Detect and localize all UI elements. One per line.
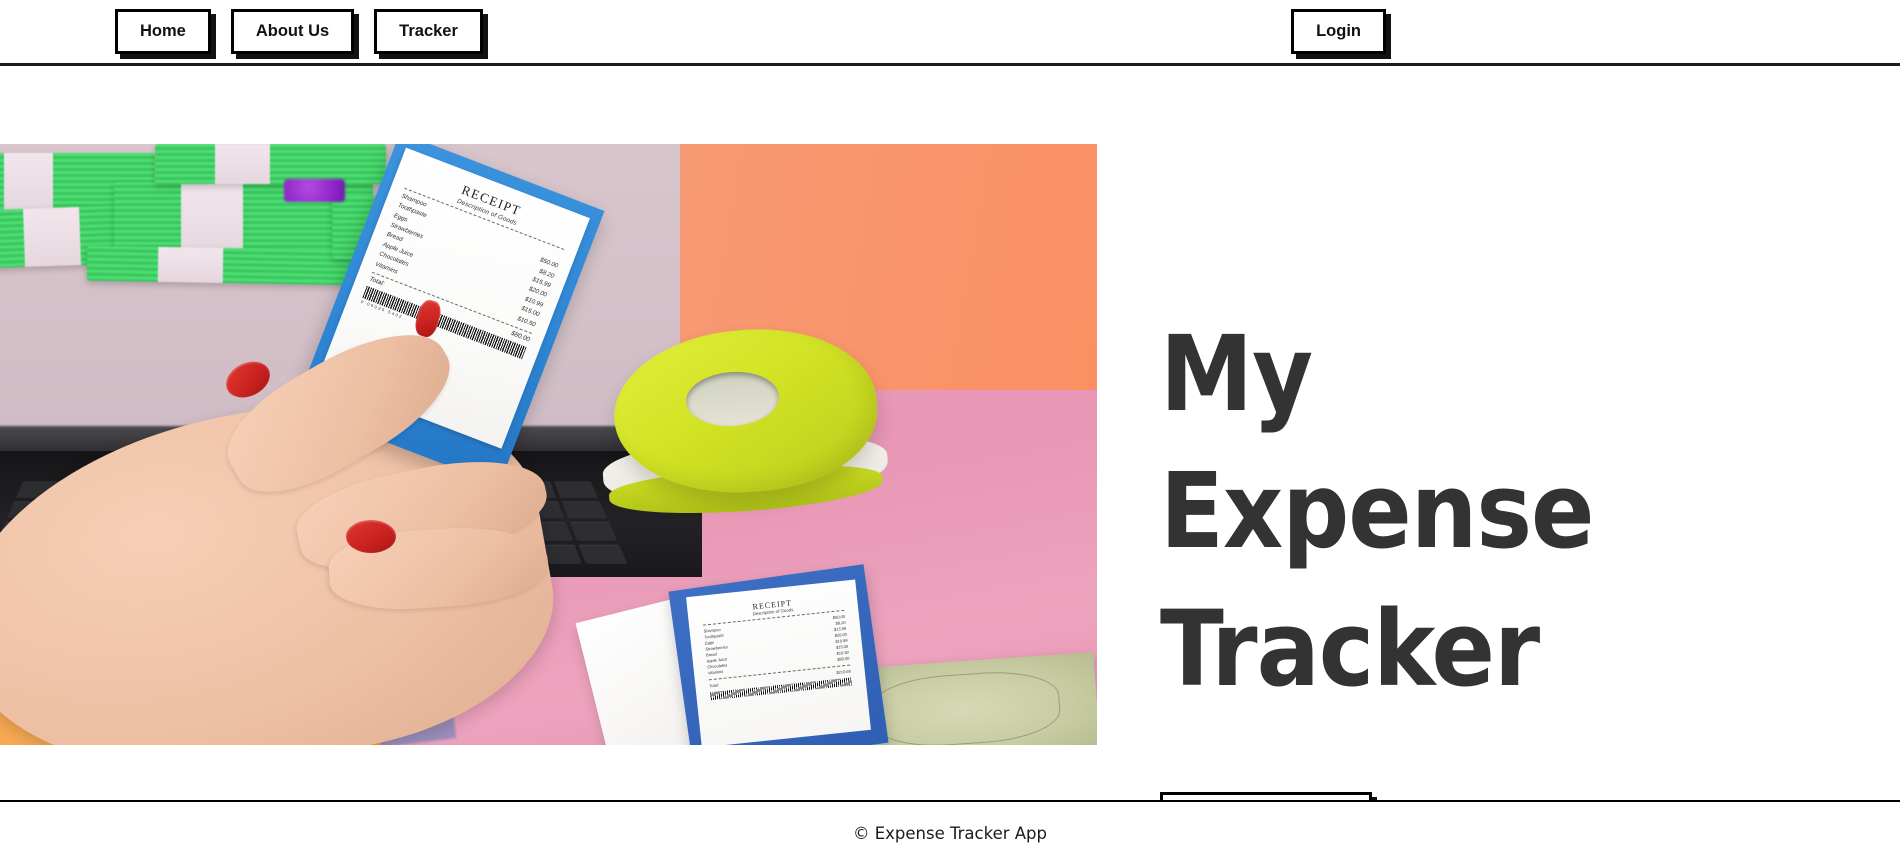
photo-money-bundle bbox=[87, 245, 360, 284]
total-label: Total: bbox=[369, 276, 386, 288]
footer-copyright: © Expense Tracker App bbox=[853, 824, 1047, 843]
item-name: Vitamins bbox=[708, 668, 724, 676]
login-button[interactable]: Login bbox=[1291, 9, 1386, 54]
nav-tracker-button[interactable]: Tracker bbox=[374, 9, 483, 54]
header-actions: Login bbox=[1291, 9, 1386, 54]
photo-purple-seal bbox=[284, 179, 345, 202]
hero-image: RECEIPT Description of Goods Shampoo $50… bbox=[0, 144, 1097, 745]
hero-copy: My Expense Tracker Log in to get started… bbox=[1160, 306, 1760, 839]
nav-about-us-button[interactable]: About Us bbox=[231, 9, 354, 54]
photo-receipt-secondary-paper: RECEIPT Description of Goods Shampoo $50… bbox=[686, 579, 871, 745]
site-header: Home About Us Tracker Login bbox=[0, 0, 1900, 66]
total-label: Total: bbox=[709, 682, 719, 689]
nav-home-button[interactable]: Home bbox=[115, 9, 211, 54]
photo-receipt-secondary: RECEIPT Description of Goods Shampoo $50… bbox=[669, 564, 890, 745]
page-title: My Expense Tracker bbox=[1160, 306, 1760, 718]
item-price bbox=[559, 253, 563, 263]
photo-fingernail bbox=[346, 520, 396, 554]
page-title-line-1: My Expense bbox=[1160, 313, 1594, 572]
item-price: $80.00 bbox=[837, 655, 850, 662]
site-footer: © Expense Tracker App bbox=[0, 800, 1900, 865]
main-content: RECEIPT Description of Goods Shampoo $50… bbox=[0, 66, 1900, 800]
primary-navigation: Home About Us Tracker bbox=[115, 9, 483, 54]
hero-photo-scene: RECEIPT Description of Goods Shampoo $50… bbox=[0, 144, 1097, 745]
photo-money-bundle bbox=[155, 144, 386, 184]
page-title-line-2: Tracker bbox=[1160, 588, 1539, 710]
total-value: $210.68 bbox=[836, 668, 851, 675]
